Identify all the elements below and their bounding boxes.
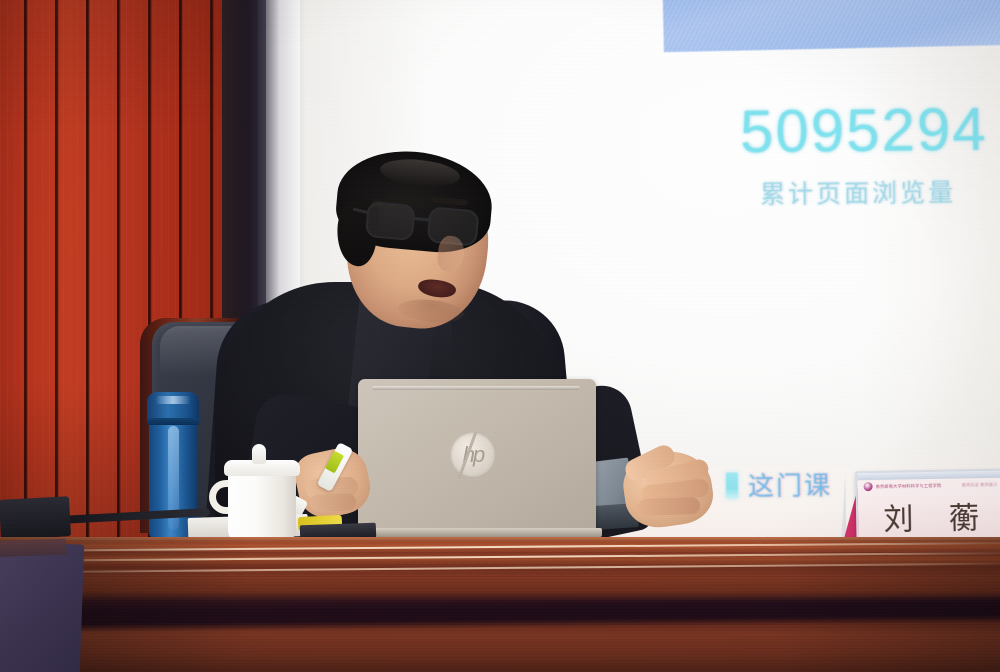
laptop-hinge-line: [372, 386, 580, 390]
name-card: 南京邮电大学材料科学与工程学院 教师风采 教师展示 刘 蘅: [855, 469, 1000, 548]
purple-side-panel: [0, 541, 84, 672]
white-teacup: [228, 468, 296, 540]
name-card-org-text: 南京邮电大学材料科学与工程学院: [876, 482, 942, 489]
name-card-person-name: 刘 蘅: [858, 493, 1000, 540]
lecture-hall-photo: 5095294 累计页面浏览量 这门课 ?: [0, 0, 1000, 672]
name-card-top-bar: [857, 471, 1000, 481]
black-device-box: [0, 496, 71, 540]
left-hand-finger-lower: [310, 493, 357, 512]
name-card-face: 南京邮电大学材料科学与工程学院 教师风采 教师展示 刘 蘅: [855, 469, 1000, 542]
thermos-lid-highlight: [155, 396, 191, 404]
laptop-base-edge: [352, 528, 602, 537]
lens-left: [365, 201, 416, 241]
name-card-header: 南京邮电大学材料科学与工程学院 教师风采 教师展示: [864, 480, 998, 491]
desk-vignette: [0, 537, 1000, 672]
purple-side-panel-top: [0, 539, 66, 558]
glasses-bridge: [414, 217, 431, 221]
right-hand-finger-3: [638, 497, 701, 516]
teacup-lid-knob: [252, 444, 266, 464]
university-logo-icon: [864, 482, 873, 491]
name-card-org-secondary-text: 教师风采 教师展示: [962, 481, 998, 488]
thermos-collar-ring: [147, 418, 199, 425]
